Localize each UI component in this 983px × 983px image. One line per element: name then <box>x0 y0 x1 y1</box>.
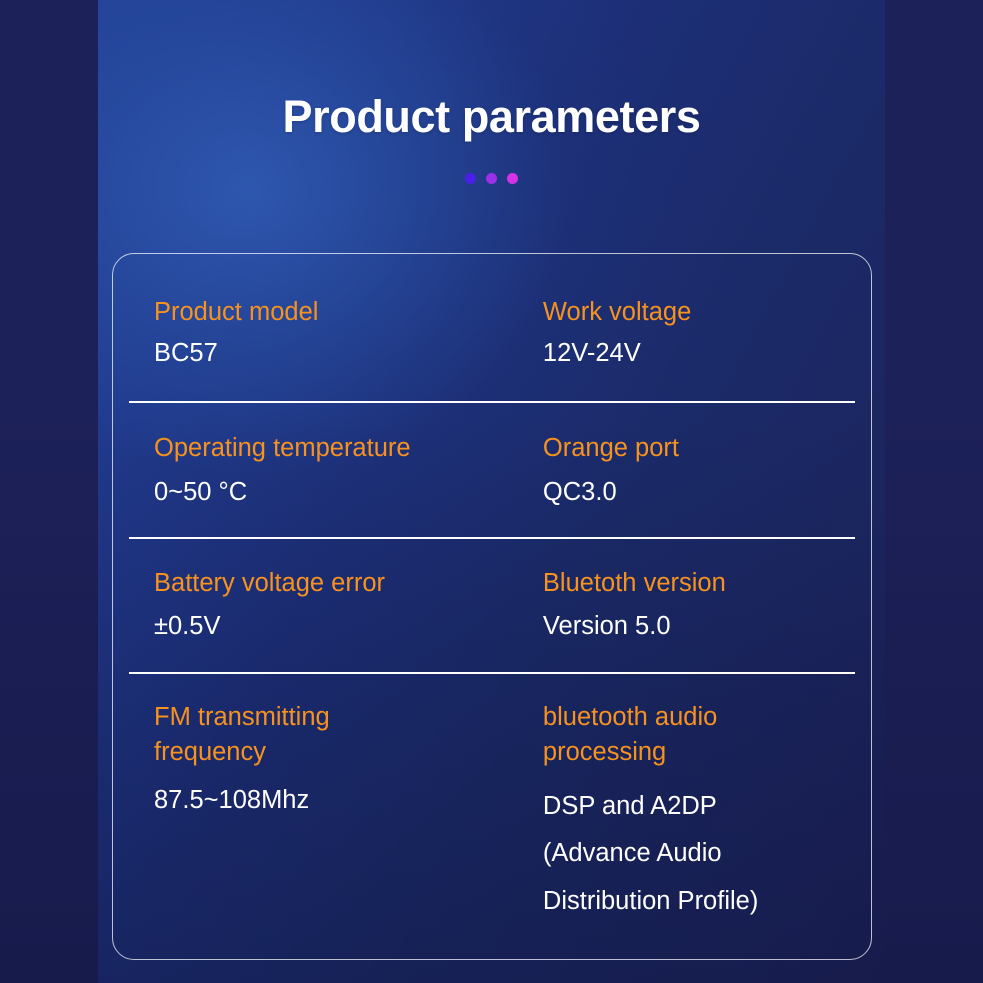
spec-cell-right: Bluetoth version Version 5.0 <box>518 537 855 672</box>
dot-3-icon <box>507 173 518 184</box>
spec-value: 12V-24V <box>543 336 845 371</box>
spec-label: Battery voltage error <box>154 566 508 601</box>
table-row: Operating temperature 0~50 °C Orange por… <box>129 401 855 536</box>
spec-label: Product model <box>154 295 508 330</box>
spec-cell-right: bluetooth audio processing DSP and A2DP … <box>518 672 855 953</box>
spec-value: ±0.5V <box>154 609 508 644</box>
spec-label: bluetooth audio processing <box>543 700 845 770</box>
spec-value: Version 5.0 <box>543 609 845 644</box>
spec-label: Bluetoth version <box>543 566 845 601</box>
spec-cell-left: FM transmitting frequency 87.5~108Mhz <box>129 672 518 953</box>
spec-value: BC57 <box>154 336 508 371</box>
dot-2-icon <box>486 173 497 184</box>
spec-cell-left: Product model BC57 <box>129 254 518 401</box>
spec-label: FM transmitting frequency <box>154 700 508 770</box>
spec-value: 0~50 °C <box>154 475 508 510</box>
spec-cell-left: Operating temperature 0~50 °C <box>129 401 518 536</box>
spec-label: Operating temperature <box>154 431 508 466</box>
spec-value: 87.5~108Mhz <box>154 783 508 818</box>
spec-value: QC3.0 <box>543 475 845 510</box>
table-row: Product model BC57 Work voltage 12V-24V <box>129 254 855 401</box>
page-title: Product parameters <box>0 92 983 142</box>
spec-value: DSP and A2DP (Advance Audio Distribution… <box>543 783 845 926</box>
dot-1-icon <box>465 173 476 184</box>
spec-card: Product model BC57 Work voltage 12V-24V … <box>112 253 872 960</box>
spec-label: Work voltage <box>543 295 845 330</box>
spec-table: Product model BC57 Work voltage 12V-24V … <box>129 254 855 959</box>
spec-label: Orange port <box>543 431 845 466</box>
table-row: FM transmitting frequency 87.5~108Mhz bl… <box>129 672 855 953</box>
decorative-dots <box>0 173 983 184</box>
header: Product parameters <box>0 92 983 184</box>
spec-cell-right: Work voltage 12V-24V <box>518 254 855 401</box>
spec-cell-right: Orange port QC3.0 <box>518 401 855 536</box>
spec-cell-left: Battery voltage error ±0.5V <box>129 537 518 672</box>
table-row: Battery voltage error ±0.5V Bluetoth ver… <box>129 537 855 672</box>
